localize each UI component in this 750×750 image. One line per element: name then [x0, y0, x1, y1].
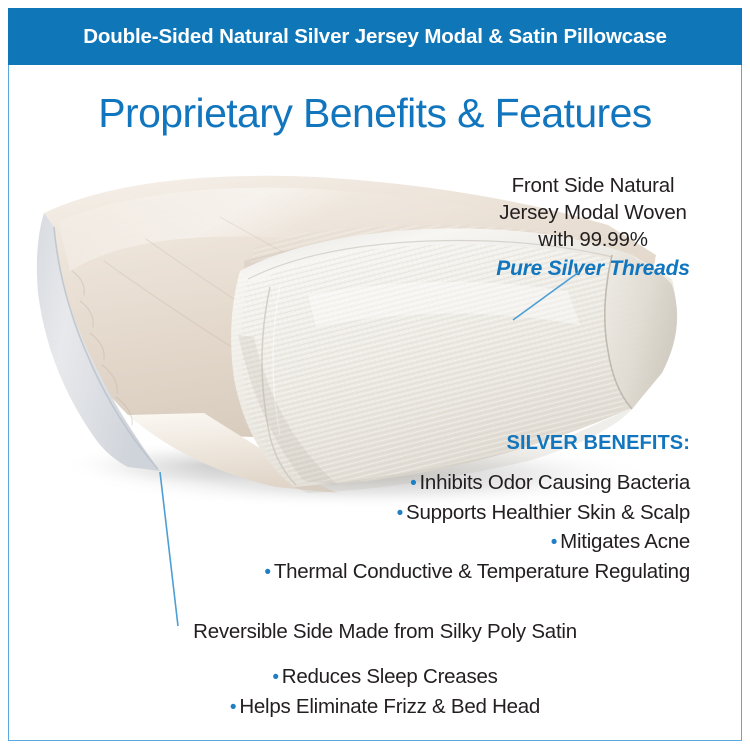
- leader-line-top-icon: [505, 268, 585, 326]
- bullet-dot-icon: •: [264, 562, 270, 583]
- list-item-label: Inhibits Odor Causing Bacteria: [419, 471, 690, 494]
- list-item-label: Supports Healthier Skin & Scalp: [406, 501, 690, 524]
- header-bar: Double-Sided Natural Silver Jersey Modal…: [8, 8, 742, 65]
- list-item-label: Reduces Sleep Creases: [282, 665, 498, 688]
- page-title: Proprietary Benefits & Features: [0, 92, 750, 135]
- bullet-dot-icon: •: [397, 503, 403, 524]
- callout-front-line1: Front Side Natural: [512, 174, 675, 197]
- product-infographic-page: Double-Sided Natural Silver Jersey Modal…: [0, 0, 750, 750]
- list-item-label: Mitigates Acne: [560, 530, 690, 553]
- callout-front-line2: Jersey Modal Woven: [499, 201, 686, 224]
- bullet-dot-icon: •: [551, 532, 557, 553]
- callout-front-emphasis: Pure Silver Threads: [452, 255, 734, 283]
- leader-line-bottom-icon: [152, 468, 186, 630]
- list-item-label: Thermal Conductive & Temperature Regulat…: [274, 560, 690, 583]
- header-title: Double-Sided Natural Silver Jersey Modal…: [83, 25, 667, 49]
- callout-front-line3: with 99.99%: [538, 228, 647, 251]
- silver-benefits-list: •Inhibits Odor Causing Bacteria •Support…: [190, 468, 690, 586]
- silver-benefits-block: SILVER BENEFITS: •Inhibits Odor Causing …: [190, 432, 690, 586]
- list-item: •Thermal Conductive & Temperature Regula…: [190, 557, 690, 587]
- silver-benefits-heading: SILVER BENEFITS:: [190, 432, 690, 455]
- reversible-side-block: Reversible Side Made from Silky Poly Sat…: [120, 620, 650, 722]
- bullet-dot-icon: •: [410, 473, 416, 494]
- list-item-label: Helps Eliminate Frizz & Bed Head: [239, 695, 540, 718]
- list-item: •Supports Healthier Skin & Scalp: [190, 498, 690, 528]
- callout-front-side: Front Side Natural Jersey Modal Woven wi…: [452, 172, 734, 283]
- list-item: •Inhibits Odor Causing Bacteria: [190, 468, 690, 498]
- list-item: •Mitigates Acne: [190, 527, 690, 557]
- list-item: •Reduces Sleep Creases: [120, 662, 650, 692]
- list-item: •Helps Eliminate Frizz & Bed Head: [120, 692, 650, 722]
- bullet-dot-icon: •: [230, 697, 236, 718]
- reversible-side-title: Reversible Side Made from Silky Poly Sat…: [120, 620, 650, 644]
- reversible-side-list: •Reduces Sleep Creases •Helps Eliminate …: [120, 662, 650, 722]
- bullet-dot-icon: •: [272, 667, 278, 688]
